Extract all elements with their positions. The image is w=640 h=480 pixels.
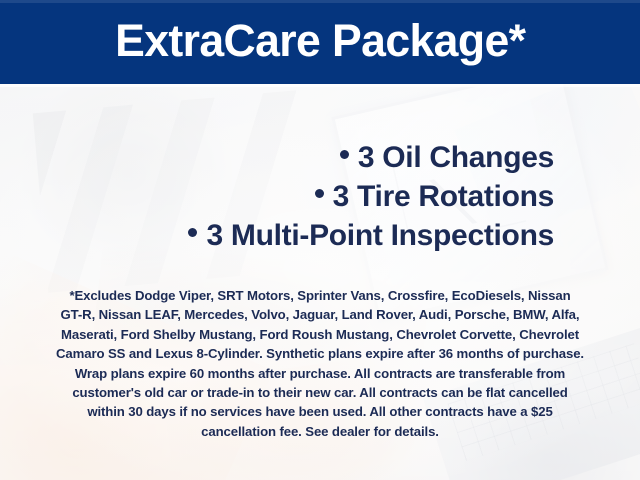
bullet-dot-icon: [340, 150, 349, 159]
disclaimer-line: Camaro SS and Lexus 8-Cylinder. Syntheti…: [28, 344, 612, 363]
benefits-list: 3 Oil Changes 3 Tire Rotations 3 Multi-P…: [0, 138, 640, 255]
disclaimer-line: within 30 days if no services have been …: [28, 402, 612, 421]
bullet-dot-icon: [315, 189, 324, 198]
disclaimer-line: Wrap plans expire 60 months after purcha…: [28, 364, 612, 383]
page-title: ExtraCare Package*: [115, 18, 525, 66]
bullet-dot-icon: [188, 228, 197, 237]
list-item: 3 Tire Rotations: [40, 177, 554, 216]
disclaimer-line: Maserati, Ford Shelby Mustang, Ford Rous…: [28, 325, 612, 344]
disclaimer-text: *Excludes Dodge Viper, SRT Motors, Sprin…: [28, 286, 612, 441]
list-item: 3 Oil Changes: [40, 138, 554, 177]
benefit-label: 3 Tire Rotations: [333, 180, 554, 213]
benefit-label: 3 Multi-Point Inspections: [206, 219, 554, 252]
header-band: ExtraCare Package*: [0, 0, 640, 84]
disclaimer-line: customer's old car or trade-in to their …: [28, 383, 612, 402]
extracare-package-poster: ExtraCare Package* 3 Oil Changes 3 Tire …: [0, 0, 640, 480]
list-item: 3 Multi-Point Inspections: [40, 216, 554, 255]
benefit-label: 3 Oil Changes: [358, 141, 554, 174]
disclaimer-line: GT-R, Nissan LEAF, Mercedes, Volvo, Jagu…: [28, 305, 612, 324]
disclaimer-line: *Excludes Dodge Viper, SRT Motors, Sprin…: [28, 286, 612, 305]
disclaimer-line: cancellation fee. See dealer for details…: [28, 422, 612, 441]
